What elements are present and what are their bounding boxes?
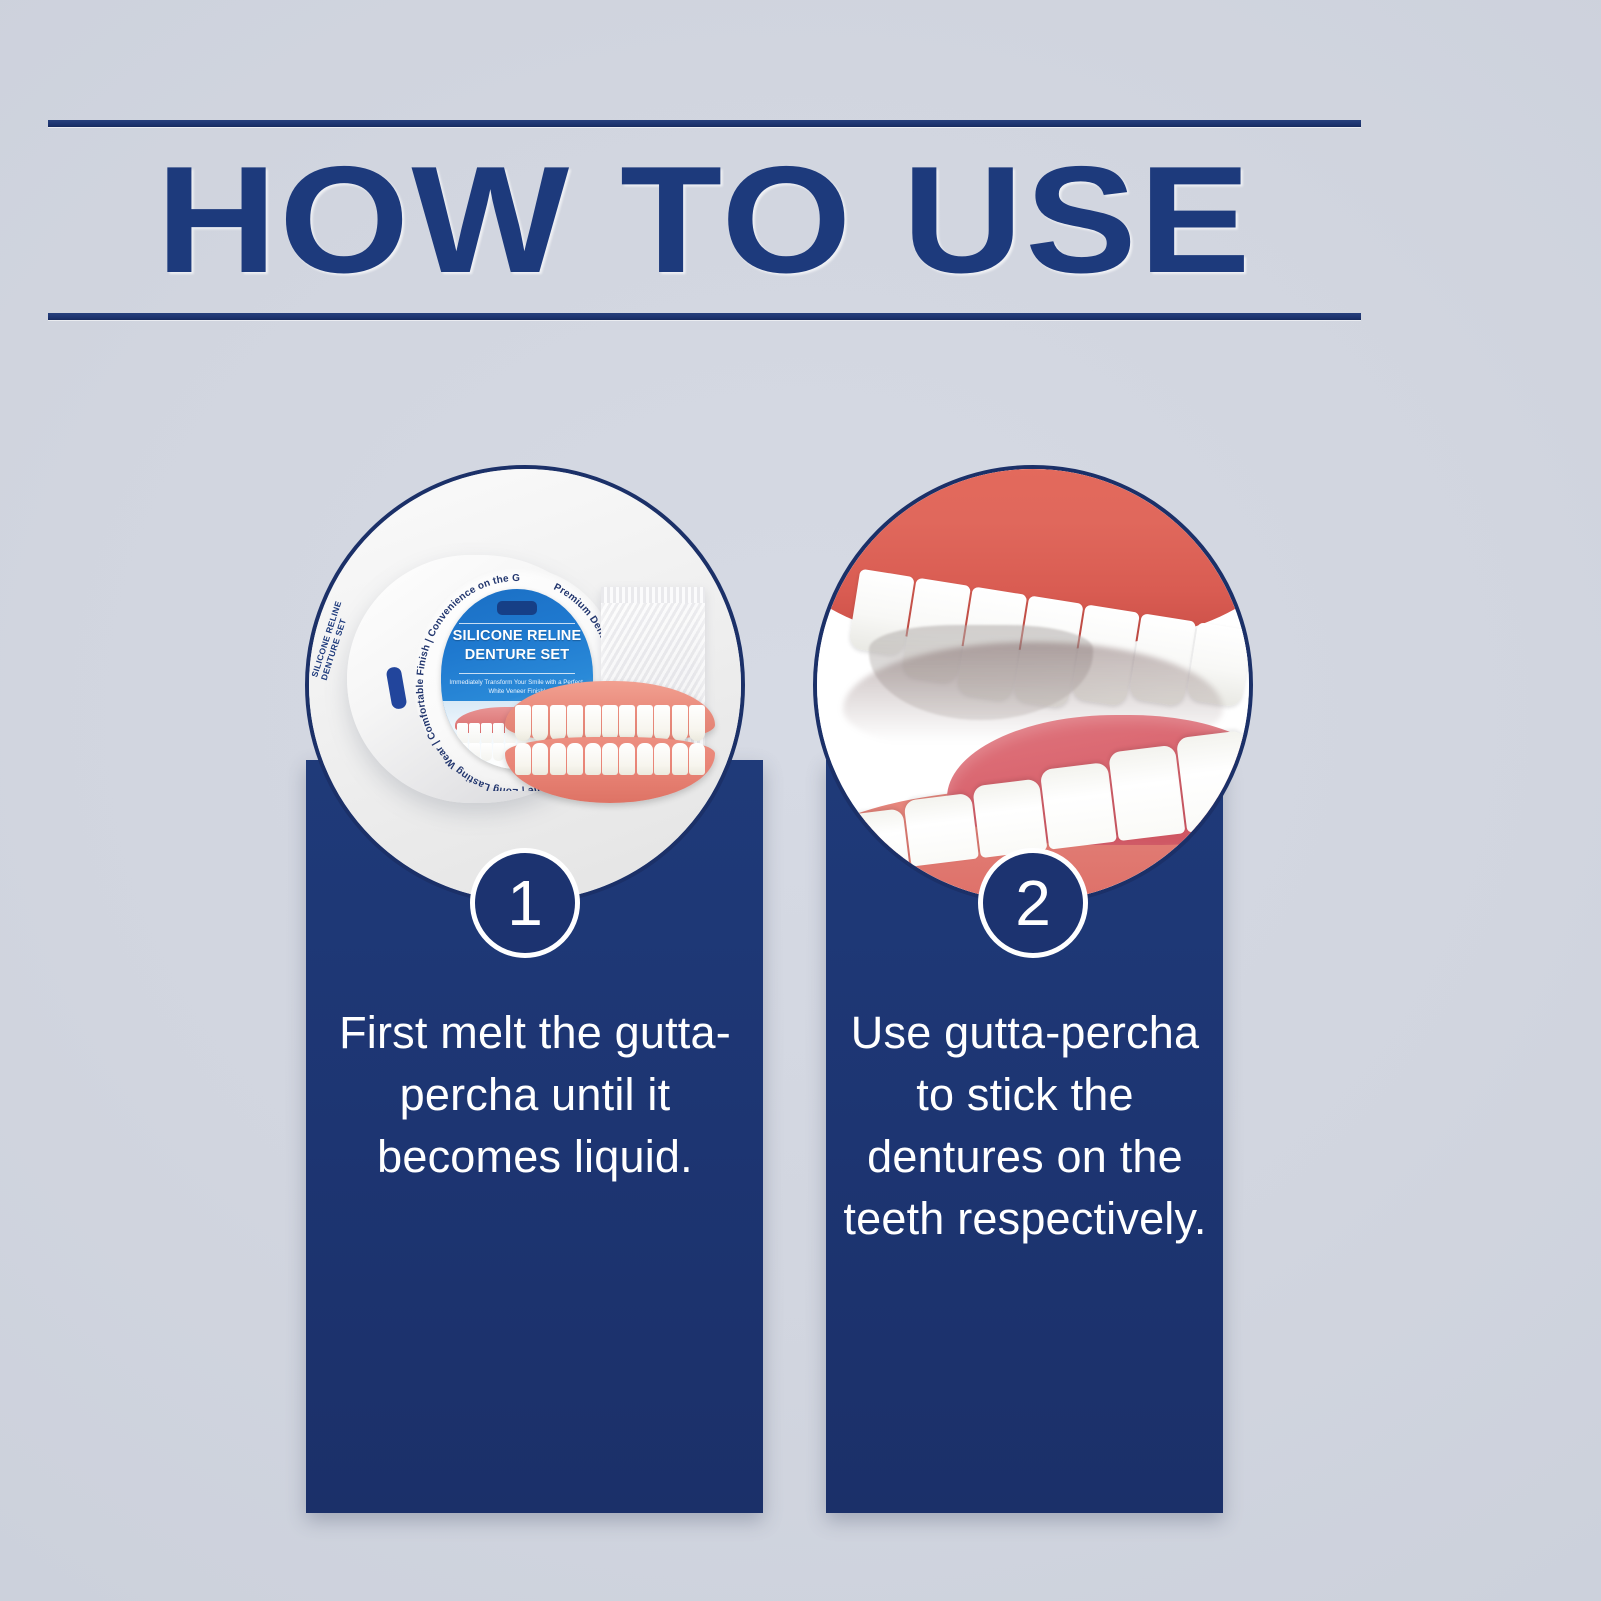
label-divider-top bbox=[459, 623, 575, 624]
steps-container: SILICONE RELINE DENTURE SET Premium Dent… bbox=[0, 0, 1601, 1601]
denture-veneers bbox=[505, 681, 715, 809]
denture-lower-teeth bbox=[515, 743, 705, 775]
step-1-caption: First melt the gutta-percha until it bec… bbox=[318, 1002, 752, 1188]
label-divider-bottom bbox=[459, 673, 575, 674]
step-2-caption: Use gutta-percha to stick the dentures o… bbox=[832, 1002, 1218, 1250]
label-chip bbox=[497, 601, 537, 615]
label-title: SILICONE RELINE DENTURE SET bbox=[447, 627, 587, 665]
step-1-photo: SILICONE RELINE DENTURE SET Premium Dent… bbox=[305, 465, 745, 905]
step-1-number-badge: 1 bbox=[470, 848, 580, 958]
step-2-photo bbox=[813, 465, 1253, 905]
product-scene: SILICONE RELINE DENTURE SET Premium Dent… bbox=[309, 469, 741, 901]
infographic-poster: HOW TO USE SILICONE RELINE DENTURE SET bbox=[0, 0, 1601, 1601]
mouth-scene bbox=[817, 469, 1249, 901]
denture-upper-teeth bbox=[515, 705, 705, 741]
label-title-line1: SILICONE RELINE bbox=[453, 628, 582, 644]
label-title-line2: DENTURE SET bbox=[465, 647, 570, 663]
step-2-number-badge: 2 bbox=[978, 848, 1088, 958]
